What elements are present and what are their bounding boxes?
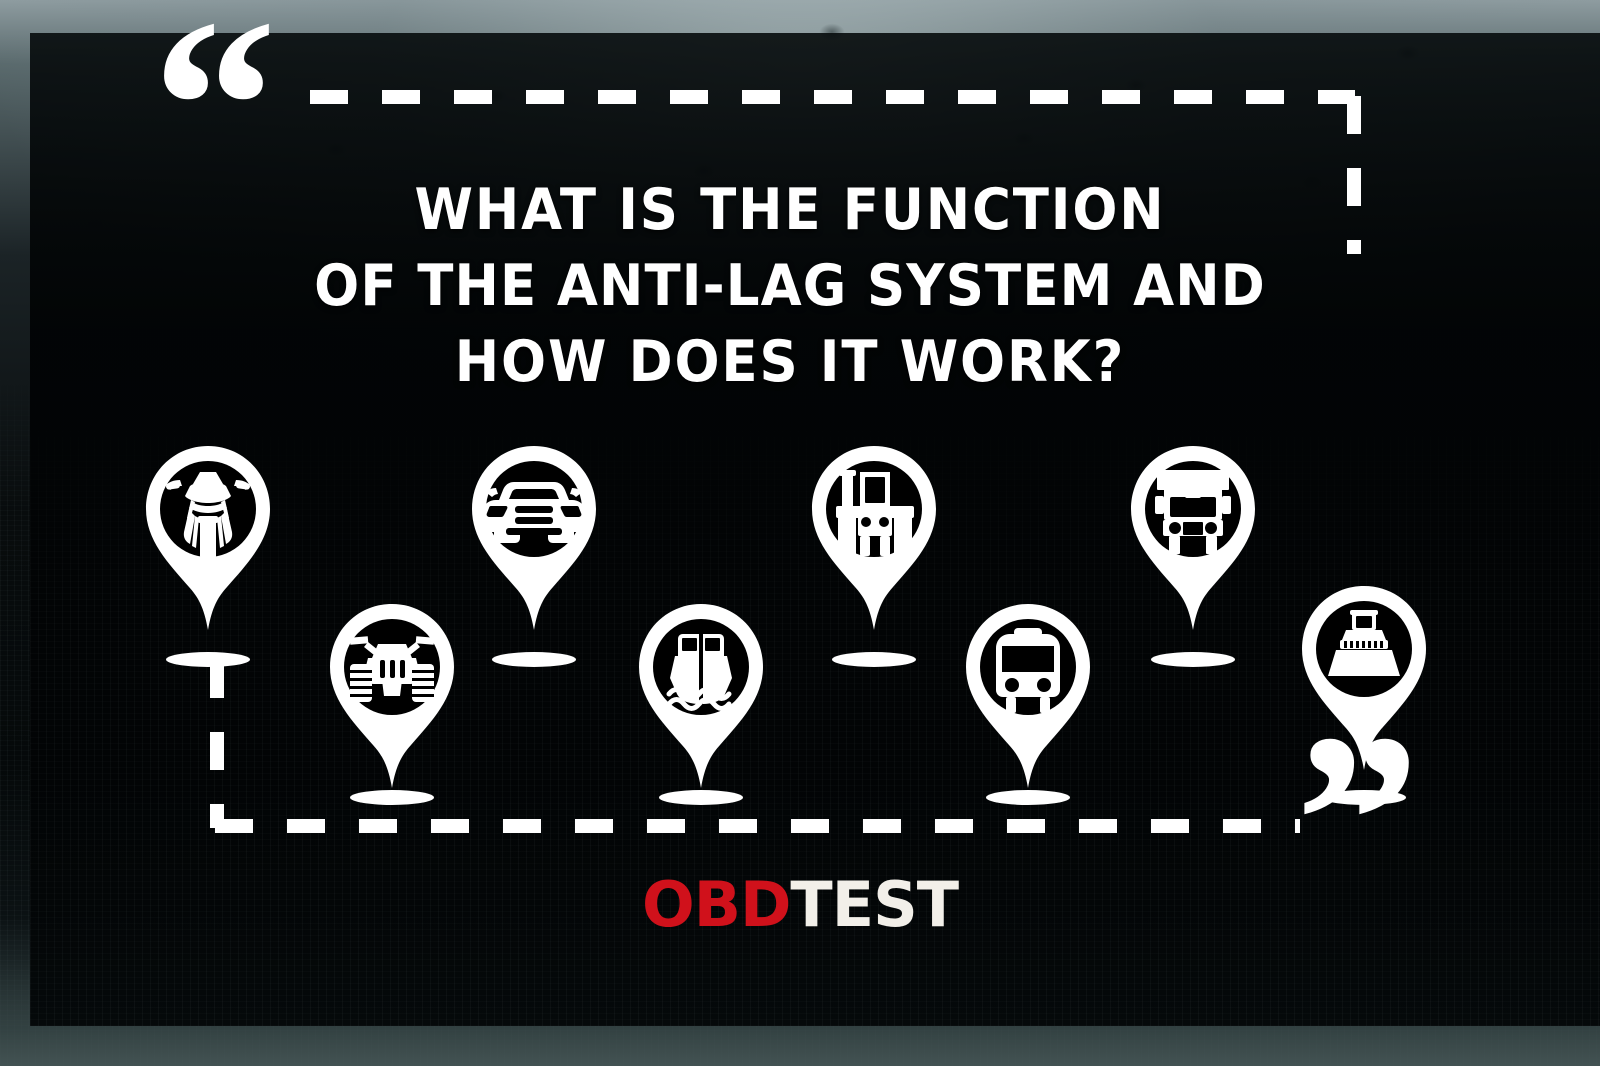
- atv-icon: [316, 602, 468, 790]
- map-pin-bulldozer[interactable]: [1288, 584, 1440, 772]
- pin-shadow-truck: [1151, 652, 1235, 667]
- map-pin-car[interactable]: [458, 444, 610, 632]
- map-pin-tractor[interactable]: [798, 444, 950, 632]
- map-pin-truck[interactable]: [1117, 444, 1269, 632]
- page-title: WHAT IS THE FUNCTION OF THE ANTI-LAG SYS…: [288, 172, 1292, 400]
- dashed-line-right: [1347, 96, 1361, 254]
- pin-shadow-car: [492, 652, 576, 667]
- pin-shadow-bulldozer: [1322, 790, 1406, 805]
- poster-canvas: “ ” WHAT IS THE FUNCTION OF THE ANTI-LAG…: [0, 0, 1600, 1066]
- title-line-3: HOW DOES IT WORK?: [288, 324, 1292, 400]
- car-icon: [458, 444, 610, 632]
- pin-shadow-bus: [986, 790, 1070, 805]
- map-pin-motorcycle[interactable]: [132, 444, 284, 632]
- title-line-1: WHAT IS THE FUNCTION: [288, 172, 1292, 248]
- brand-logo: OBDTEST: [0, 874, 1600, 936]
- motorcycle-icon: [132, 444, 284, 632]
- map-pin-boat[interactable]: [625, 602, 777, 790]
- opening-quote-icon: “: [152, 0, 277, 232]
- brand-logo-obd: OBD: [642, 868, 790, 941]
- map-pin-bus[interactable]: [952, 602, 1104, 790]
- brand-logo-test: TEST: [790, 868, 958, 941]
- tractor-icon: [798, 444, 950, 632]
- map-pin-atv[interactable]: [316, 602, 468, 790]
- bus-icon: [952, 602, 1104, 790]
- dashed-line-left: [210, 660, 224, 828]
- boat-icon: [625, 602, 777, 790]
- pin-shadow-tractor: [832, 652, 916, 667]
- title-line-2: OF THE ANTI-LAG SYSTEM AND: [288, 248, 1292, 324]
- pin-shadow-atv: [350, 790, 434, 805]
- dashed-line-bottom: [215, 819, 1300, 833]
- pin-shadow-motorcycle: [166, 652, 250, 667]
- bulldozer-icon: [1288, 584, 1440, 772]
- dashed-line-top: [310, 90, 1355, 104]
- pin-shadow-boat: [659, 790, 743, 805]
- truck-icon: [1117, 444, 1269, 632]
